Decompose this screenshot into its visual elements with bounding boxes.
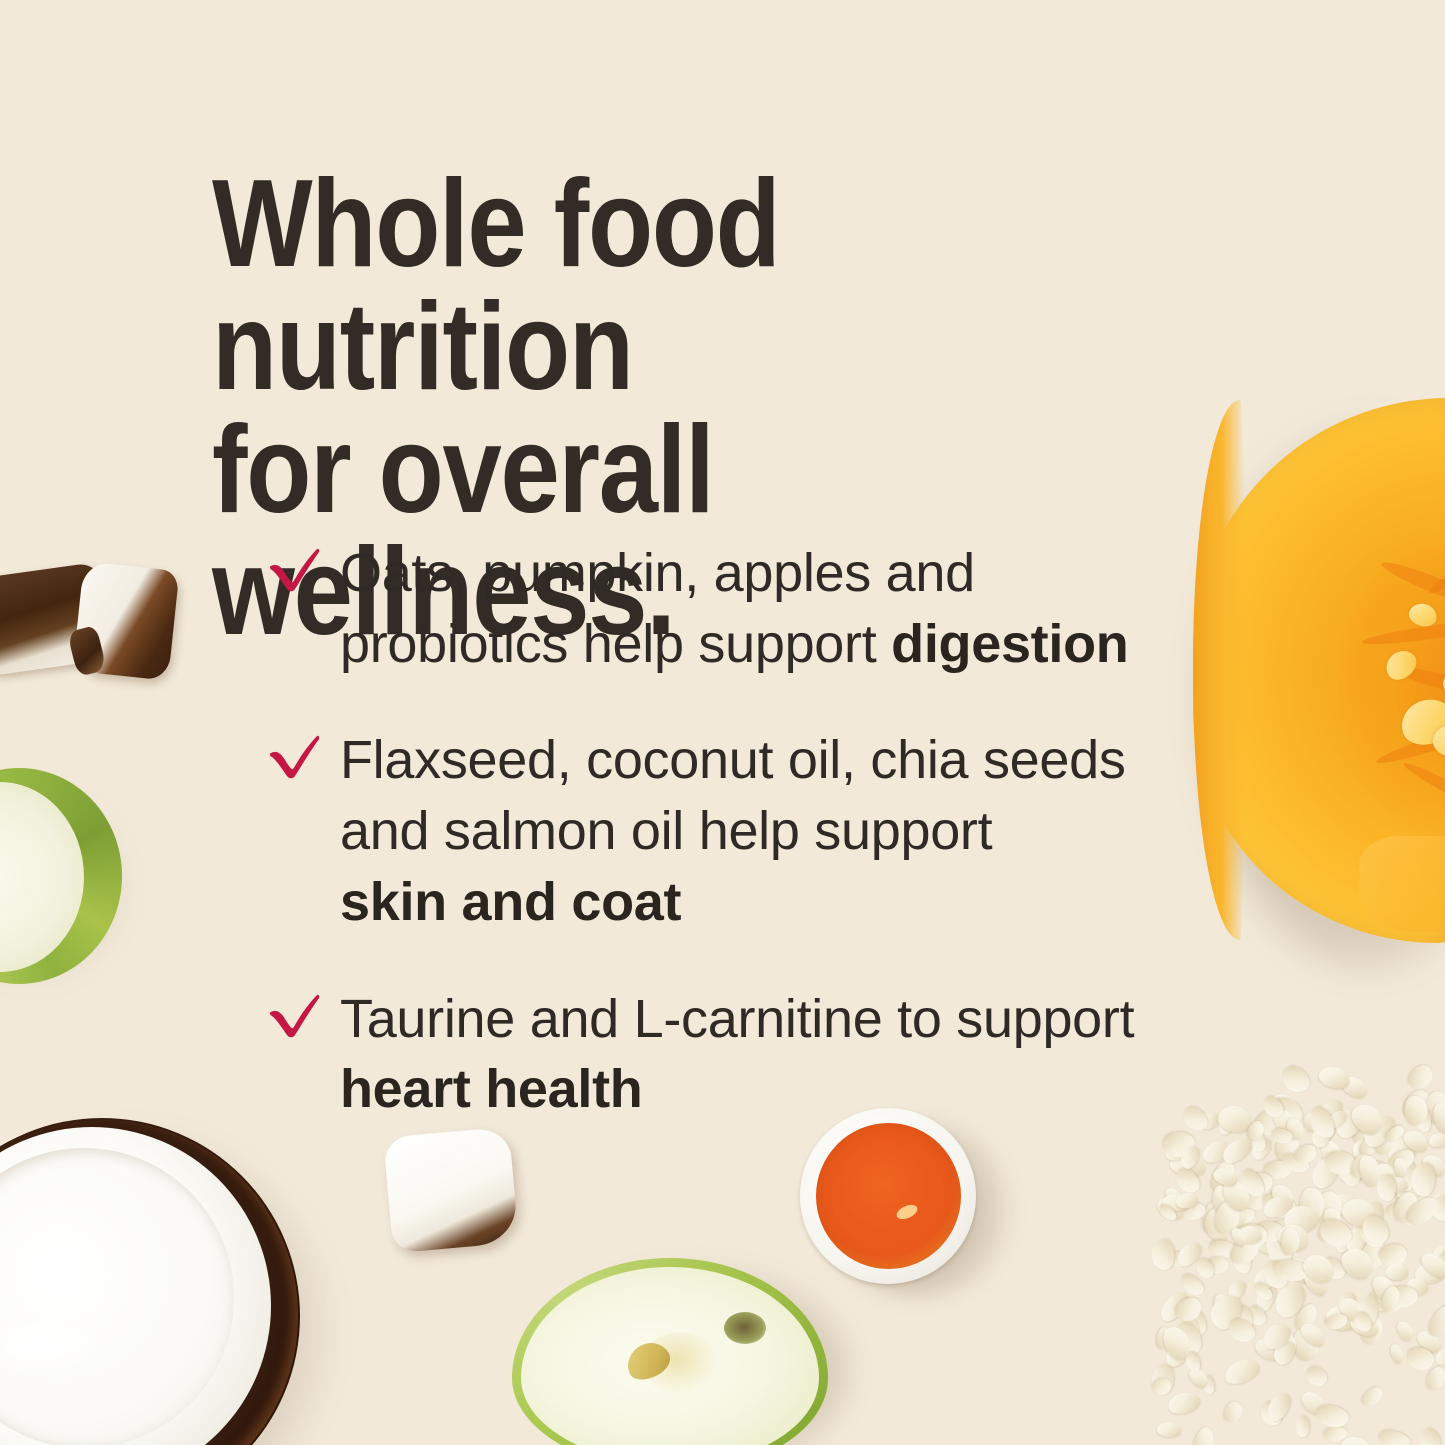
coconut-half-image <box>0 1118 324 1445</box>
apple-half-image <box>512 1258 842 1445</box>
list-item-lead: Oats, pumpkin, apples and probiotics hel… <box>340 543 975 674</box>
list-item-lead: Taurine and L-carnitine to support <box>340 989 1134 1049</box>
poster-canvas: Whole food nutrition for overall wellnes… <box>0 0 1445 1445</box>
list-item-emphasis: digestion <box>891 614 1128 674</box>
list-item-emphasis: skin and coat <box>340 872 681 932</box>
oat-flake <box>1191 1425 1217 1445</box>
coconut-chunk-icon <box>72 628 102 674</box>
list-item: Flaxseed, coconut oil, chia seeds and sa… <box>268 725 1228 937</box>
oat-flake <box>1359 1383 1386 1409</box>
oat-flake <box>1151 1238 1175 1271</box>
list-item-lead: Flaxseed, coconut oil, chia seeds and sa… <box>340 730 1126 861</box>
benefits-list: Oats, pumpkin, apples and probiotics hel… <box>268 538 1228 1125</box>
oat-flake <box>1377 1174 1396 1201</box>
list-item: Taurine and L-carnitine to support heart… <box>268 984 1228 1125</box>
oat-flake <box>1388 1342 1405 1364</box>
oat-flake <box>1432 1195 1445 1221</box>
pumpkin-cut-face <box>1359 836 1445 932</box>
oat-flake <box>1386 1263 1408 1281</box>
list-item-text: Taurine and L-carnitine to support heart… <box>340 989 1134 1120</box>
apple-stem-spot <box>724 1312 766 1344</box>
oats-pile-image <box>1121 1073 1445 1445</box>
apple-slice-image <box>0 768 134 990</box>
oat-flake <box>1302 1363 1330 1390</box>
check-icon <box>268 731 322 779</box>
oat-flake <box>1376 1428 1412 1445</box>
oat-flake <box>1157 1421 1182 1437</box>
oat-flake <box>1404 1061 1437 1094</box>
list-item-text: Oats, pumpkin, apples and probiotics hel… <box>340 543 1128 674</box>
oat-flake <box>1166 1390 1202 1417</box>
oat-flake <box>1416 1426 1445 1445</box>
oat-flake <box>1296 1416 1310 1438</box>
list-item: Oats, pumpkin, apples and probiotics hel… <box>268 538 1228 679</box>
coconut-chunk-icon <box>388 1132 514 1248</box>
oat-flake <box>1314 1403 1351 1431</box>
check-icon <box>268 990 322 1038</box>
list-item-text: Flaxseed, coconut oil, chia seeds and sa… <box>340 730 1126 931</box>
check-icon <box>268 544 322 592</box>
oat-flake <box>1222 1400 1246 1426</box>
pumpkin-half-image <box>1193 398 1445 958</box>
oat-flake <box>1221 1354 1262 1388</box>
salmon-oil-surface <box>816 1123 961 1269</box>
list-item-emphasis: heart health <box>340 1059 642 1119</box>
oil-bowl-image <box>800 1108 1012 1288</box>
oat-flake <box>1393 1319 1416 1344</box>
oat-flake <box>1277 1061 1314 1097</box>
oat-flake <box>1429 1131 1445 1148</box>
